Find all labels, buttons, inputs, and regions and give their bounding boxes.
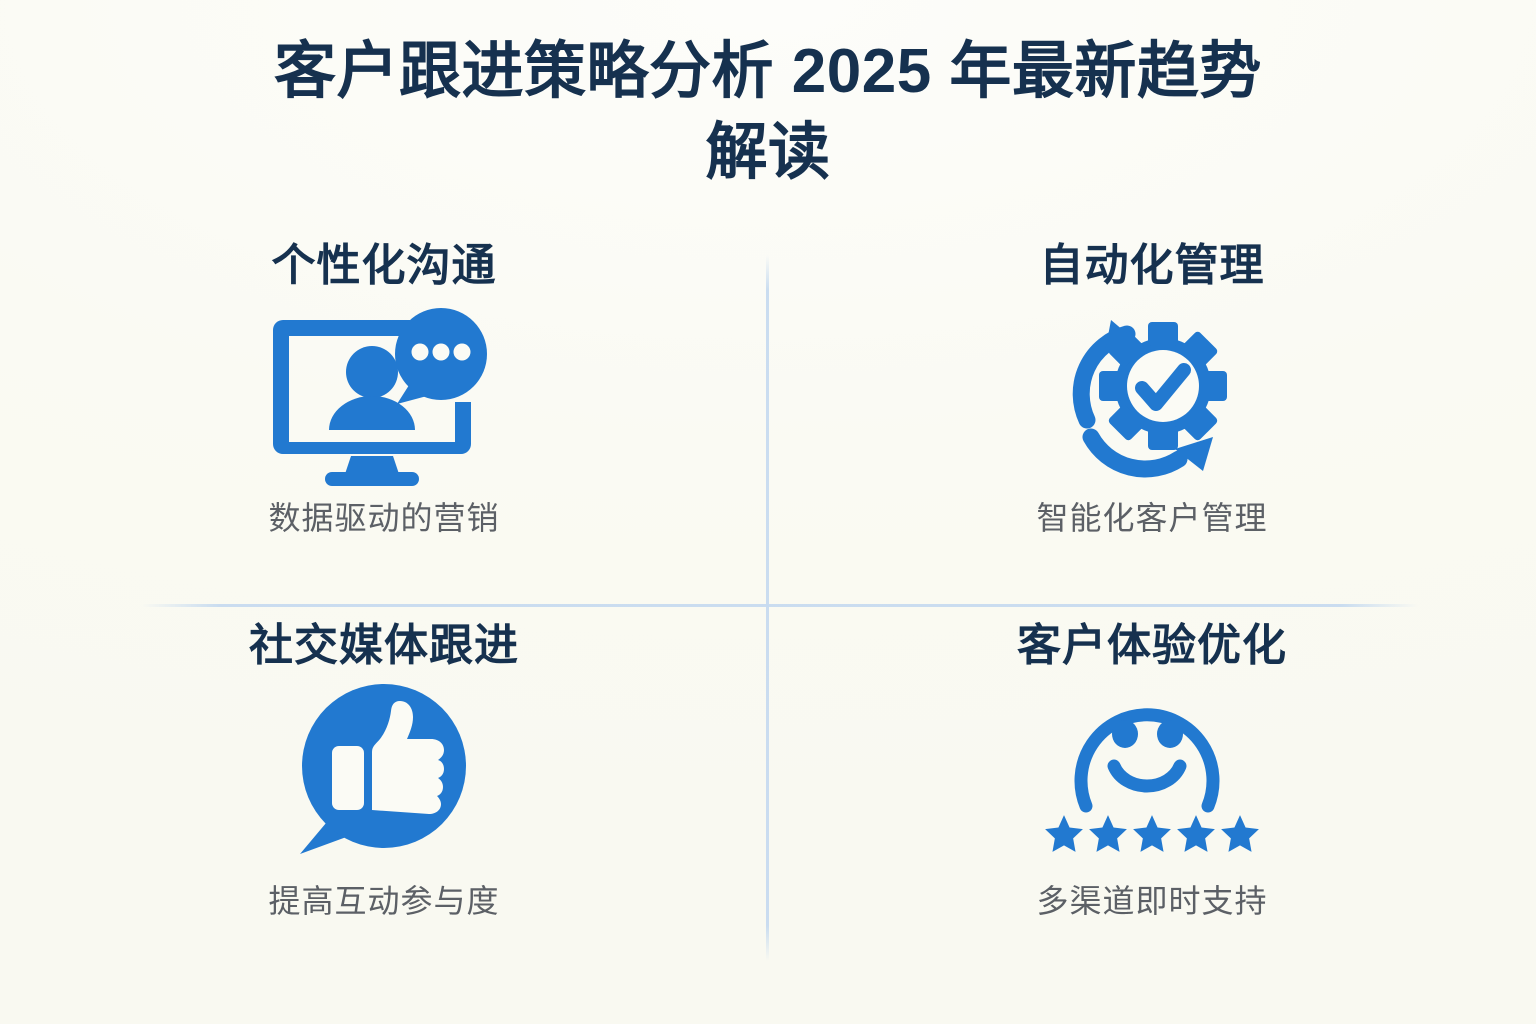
quadrant-caption: 多渠道即时支持 [1036,885,1267,917]
quadrant-automated-management: 自动化管理 [768,232,1536,606]
quadrant-caption: 智能化客户管理 [1036,502,1267,534]
gear-checkmark-refresh-icon [1057,306,1247,486]
smiley-five-stars-icon [1042,678,1262,863]
page-title: 客户跟进策略分析 2025 年最新趋势 解读 [150,32,1386,193]
quadrant-customer-experience-optimization: 客户体验优化 [768,606,1536,980]
quadrant-social-media-followup: 社交媒体跟进 提高互动参与度 [0,606,768,980]
quadrant-heading: 自动化管理 [1040,244,1265,288]
page-title-line2: 解读 [705,118,830,187]
quadrant-caption: 数据驱动的营销 [268,502,499,534]
quadrant-personalized-communication: 个性化沟通 [0,232,768,606]
page-title-line1: 客户跟进策略分析 2025 年最新趋势 [274,37,1262,106]
quadrant-grid: 个性化沟通 [0,232,1536,992]
quadrant-heading: 社交媒体跟进 [249,624,519,668]
quadrant-heading: 个性化沟通 [272,244,497,288]
quadrant-heading: 客户体验优化 [1017,624,1287,668]
monitor-person-chat-icon [259,306,509,486]
star-rating-group [1045,815,1259,852]
infographic-page: 客户跟进策略分析 2025 年最新趋势 解读 个性化沟通 [0,0,1536,1024]
thumbs-up-bubble-icon [284,678,484,863]
quadrant-caption: 提高互动参与度 [268,885,499,917]
